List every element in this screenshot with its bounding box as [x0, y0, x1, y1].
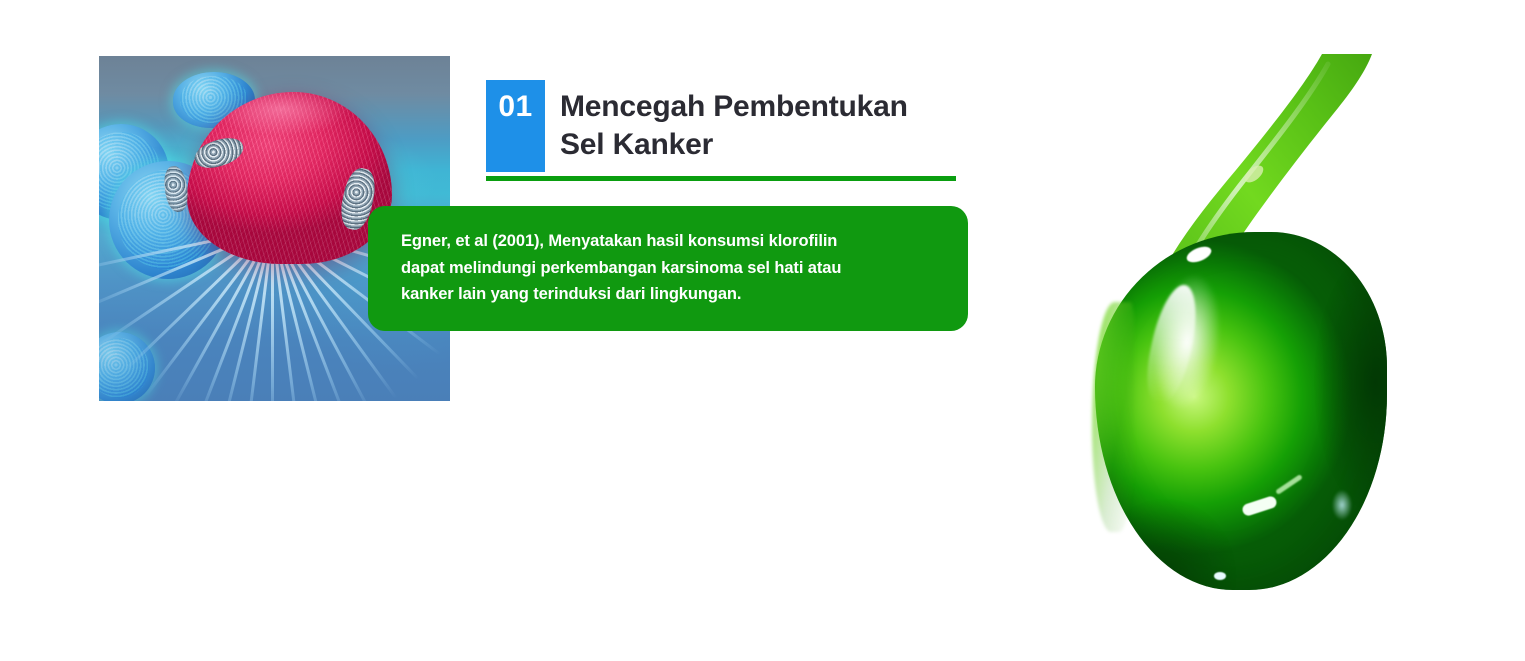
droplet-highlight-blue-reflection: [1332, 490, 1352, 520]
citation-callout-text: Egner, et al (2001), Menyatakan hasil ko…: [401, 228, 938, 308]
droplet-left-lip: [1092, 302, 1134, 532]
slide-canvas: 01 Mencegah Pembentukan Sel Kanker Egner…: [0, 0, 1525, 661]
droplet-highlight-bottom-dot: [1214, 572, 1226, 580]
citation-callout-box: Egner, et al (2001), Menyatakan hasil ko…: [368, 206, 968, 331]
green-liquid-droplet: [1086, 52, 1396, 597]
page-title: Mencegah Pembentukan Sel Kanker: [560, 88, 956, 164]
step-number-badge: 01: [486, 80, 545, 172]
heading-underline-rule: [486, 176, 956, 181]
